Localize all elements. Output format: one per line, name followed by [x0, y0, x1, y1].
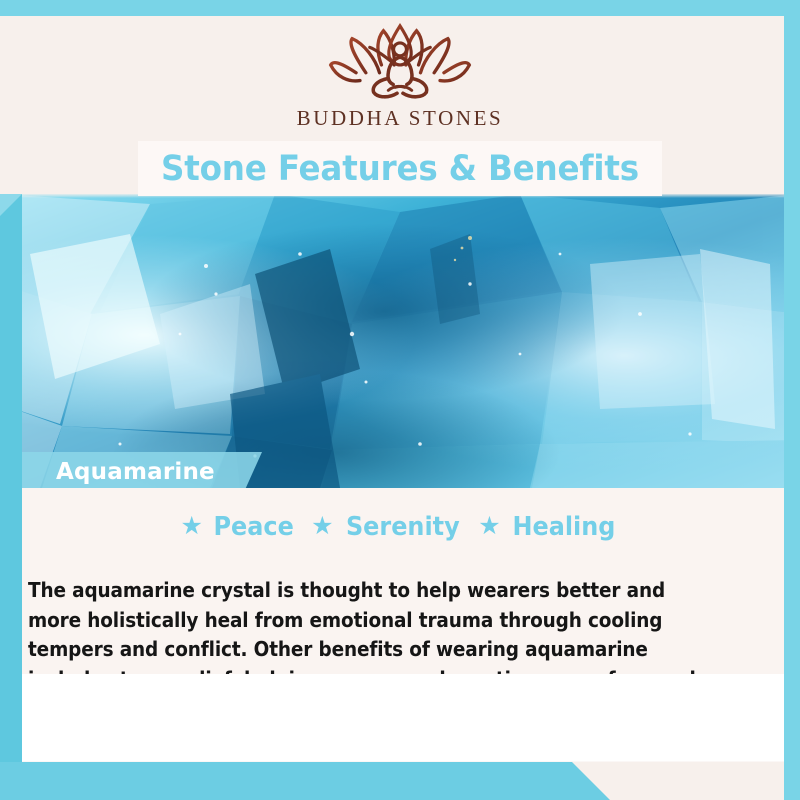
stone-name-label: Aquamarine [56, 459, 215, 485]
hero-image [0, 194, 800, 488]
brand-logo: BUDDHA STONES [297, 22, 504, 131]
star-icon: ★ [180, 514, 202, 539]
poster-root: Aquamarine ★ Peace ★ Serenity ★ Healing … [0, 0, 800, 800]
frame-right-border [784, 0, 800, 800]
benefit-label: Serenity [346, 512, 460, 542]
page-title: Stone Features & Benefits [161, 149, 639, 189]
star-icon: ★ [311, 514, 333, 539]
frame-bottom-blue-band [0, 762, 630, 800]
benefit-item-serenity: ★ Serenity [311, 512, 464, 542]
frame-left-border [0, 194, 22, 800]
benefit-item-peace: ★ Peace [180, 512, 297, 542]
stone-name-tag: Aquamarine [22, 452, 262, 492]
benefits-list: ★ Peace ★ Serenity ★ Healing [0, 512, 800, 542]
star-icon: ★ [478, 514, 500, 539]
brand-header: BUDDHA STONES [16, 16, 784, 141]
benefit-label: Healing [512, 512, 615, 542]
benefit-item-healing: ★ Healing [478, 512, 619, 542]
brand-name-text: BUDDHA STONES [297, 106, 504, 131]
bottom-white-area [22, 674, 784, 762]
benefit-label: Peace [213, 512, 293, 542]
aquamarine-crystal-cluster-photo [0, 194, 800, 488]
page-title-band: Stone Features & Benefits [138, 141, 662, 196]
lotus-meditation-figure-icon [325, 22, 475, 104]
frame-top-border [0, 0, 800, 16]
